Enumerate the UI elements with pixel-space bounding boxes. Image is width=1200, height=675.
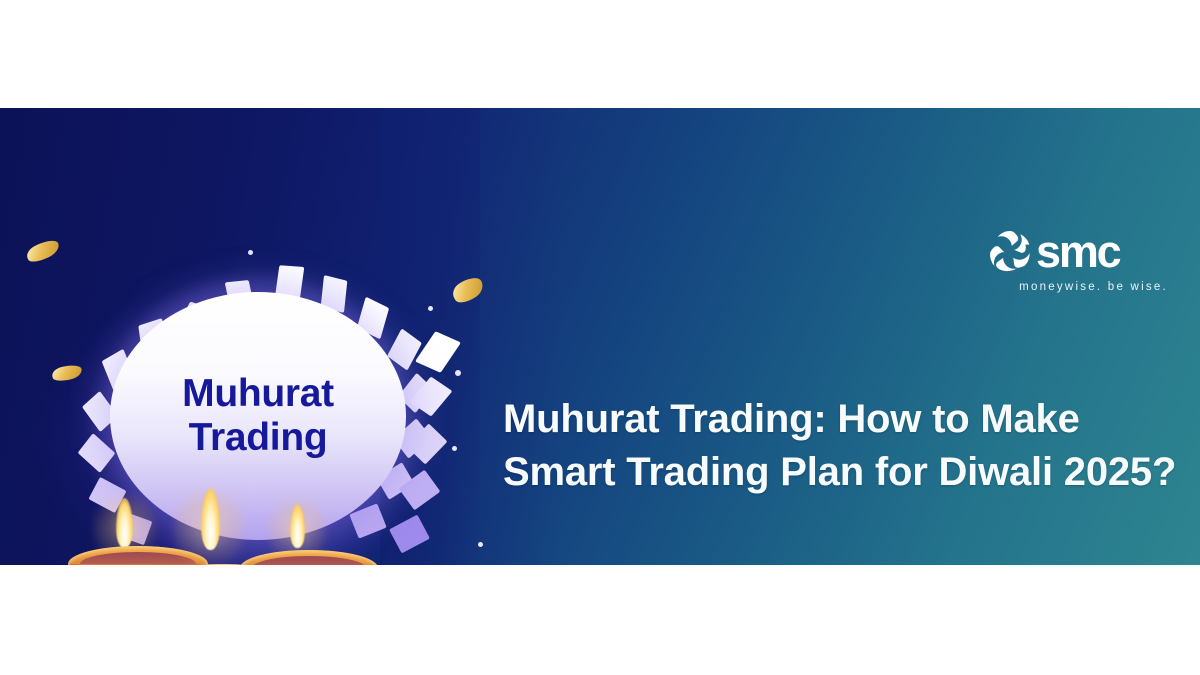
badge-line-1: Muhurat xyxy=(182,372,334,416)
smc-logo-row: smc xyxy=(986,226,1168,276)
smc-tagline: moneywise. be wise. xyxy=(986,281,1168,293)
smc-wordmark: smc xyxy=(1036,229,1119,274)
diya-lamps-group xyxy=(58,480,388,565)
smc-logo[interactable]: smc moneywise. be wise. xyxy=(986,226,1168,304)
page-title: Muhurat Trading: How to Make Smart Tradi… xyxy=(503,393,1183,499)
badge-line-2: Trading xyxy=(189,416,328,460)
page-root: Muhurat Trading xyxy=(0,0,1200,675)
article-hero-banner: Muhurat Trading xyxy=(0,108,1200,565)
smc-pinwheel-icon xyxy=(986,227,1034,275)
